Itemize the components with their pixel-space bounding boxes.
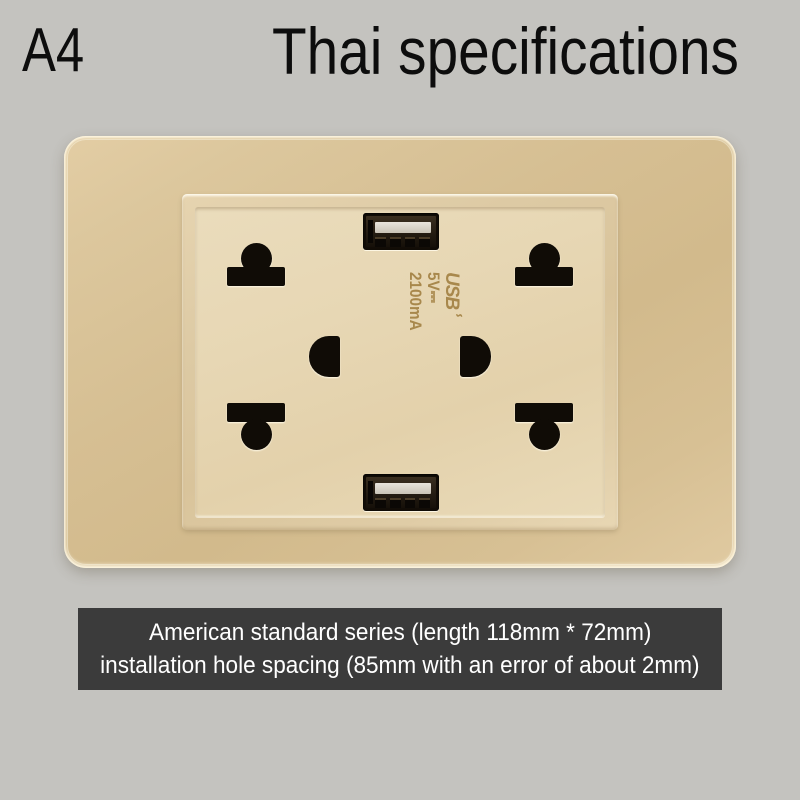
usb-contact-strip [375,483,431,494]
usb-voltage-label: 5V [424,272,443,291]
socket-hole-round-part [529,419,560,450]
specification-caption: American standard series (length 118mm *… [78,608,722,690]
usb-pins [375,498,430,508]
socket-hole-top-left [227,243,285,297]
usb-port-tab [368,481,373,504]
usb-brand-row: USB ⸯ [442,272,461,392]
usb-port-upper [363,213,439,250]
usb-port-shell [366,477,436,508]
usb-pin [419,237,430,247]
usb-pin [390,498,401,508]
usb-pin [390,237,401,247]
product-image: USB ⸯ 5V⎓ 2100mA [64,136,736,568]
usb-rating-marking: USB ⸯ 5V⎓ 2100mA [403,272,461,392]
socket-raised-plate: USB ⸯ 5V⎓ 2100mA [182,194,618,530]
socket-inner-panel: USB ⸯ 5V⎓ 2100mA [195,207,605,517]
earth-slot-left [309,336,340,377]
page-title: Thai specifications [272,16,739,86]
socket-hole-bottom-left [227,403,285,457]
earth-slot-right [460,336,491,377]
usb-port-shell [366,216,436,247]
usb-port-tab [368,220,373,243]
model-code: A4 [22,20,84,82]
usb-pin [419,498,430,508]
caption-line-1: American standard series (length 118mm *… [149,618,651,648]
socket-hole-flat-part [515,267,573,286]
usb-port-lower [363,474,439,511]
socket-hole-top-right [515,243,573,297]
usb-pin [405,237,416,247]
socket-faceplate: USB ⸯ 5V⎓ 2100mA [64,136,736,568]
usb-pin [375,498,386,508]
usb-pin [405,498,416,508]
socket-hole-bottom-right [515,403,573,457]
usb-pin [375,237,386,247]
usb-pins [375,237,430,247]
socket-hole-flat-part [227,267,285,286]
usb-current-label: 2100mA [406,272,424,380]
caption-line-2: installation hole spacing (85mm with an … [100,651,699,681]
usb-voltage-row: 5V⎓ [424,272,442,380]
usb-contact-strip [375,222,431,233]
usb-trident-icon: ⸯ [442,311,461,320]
dc-symbol-icon: ⎓ [424,291,443,302]
usb-brand-label: USB [442,272,461,309]
socket-hole-round-part [241,419,272,450]
header: A4 Thai specifications [0,0,800,108]
